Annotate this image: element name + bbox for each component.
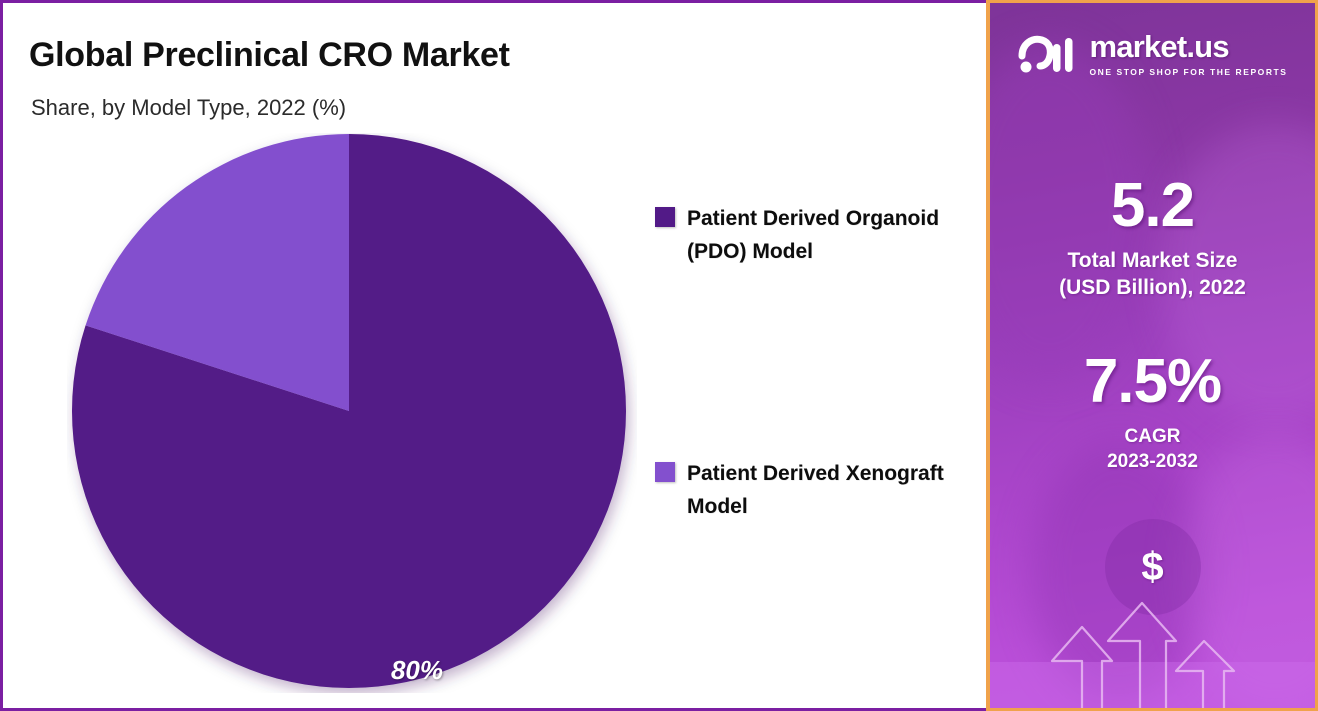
legend-item-xenograft[interactable]: Patient Derived Xenograft Model	[655, 458, 986, 523]
legend-item-pdo[interactable]: Patient Derived Organoid (PDO) Model	[655, 203, 986, 268]
stat-total-market-size: 5.2 Total Market Size (USD Billion), 202…	[990, 175, 1315, 302]
logo-text: market.us ONE STOP SHOP FOR THE REPORTS	[1090, 31, 1288, 77]
stat-value: 7.5%	[990, 351, 1315, 413]
infographic-page: Global Preclinical CRO Market Share, by …	[0, 0, 1318, 711]
pie-chart-svg	[67, 133, 637, 693]
arrow-up-right	[1176, 641, 1234, 711]
stat-value: 5.2	[990, 175, 1315, 237]
legend-item-label: Patient Derived Organoid (PDO) Model	[687, 203, 986, 268]
stat-caption-line: CAGR	[990, 425, 1315, 450]
legend-item-label: Patient Derived Xenograft Model	[687, 458, 986, 523]
stat-caption: Total Market Size (USD Billion), 2022	[990, 248, 1315, 302]
stat-caption: CAGR 2023-2032	[990, 425, 1315, 474]
page-title: Global Preclinical CRO Market	[29, 36, 510, 75]
chart-subtitle: Share, by Model Type, 2022 (%)	[31, 95, 346, 121]
stat-cagr: 7.5% CAGR 2023-2032	[990, 351, 1315, 474]
brand-logo[interactable]: market.us ONE STOP SHOP FOR THE REPORTS	[990, 31, 1315, 77]
stat-caption-line: Total Market Size	[990, 248, 1315, 275]
arrow-up-left	[1052, 627, 1112, 711]
chart-panel: Global Preclinical CRO Market Share, by …	[0, 0, 986, 711]
pie-chart: 80%	[67, 133, 637, 693]
logo-wordmark: market.us	[1090, 31, 1229, 62]
market-us-logo-icon	[1018, 32, 1078, 76]
stat-caption-line: (USD Billion), 2022	[990, 275, 1315, 302]
arrow-up-center	[1108, 603, 1176, 711]
stats-sidebar: market.us ONE STOP SHOP FOR THE REPORTS …	[986, 0, 1318, 711]
legend-swatch-icon	[655, 462, 675, 482]
dollar-icon: $	[1141, 547, 1163, 587]
stat-caption-line: 2023-2032	[990, 450, 1315, 475]
logo-tagline: ONE STOP SHOP FOR THE REPORTS	[1090, 67, 1288, 77]
legend-swatch-icon	[655, 207, 675, 227]
growth-arrows-icon	[990, 599, 1318, 711]
